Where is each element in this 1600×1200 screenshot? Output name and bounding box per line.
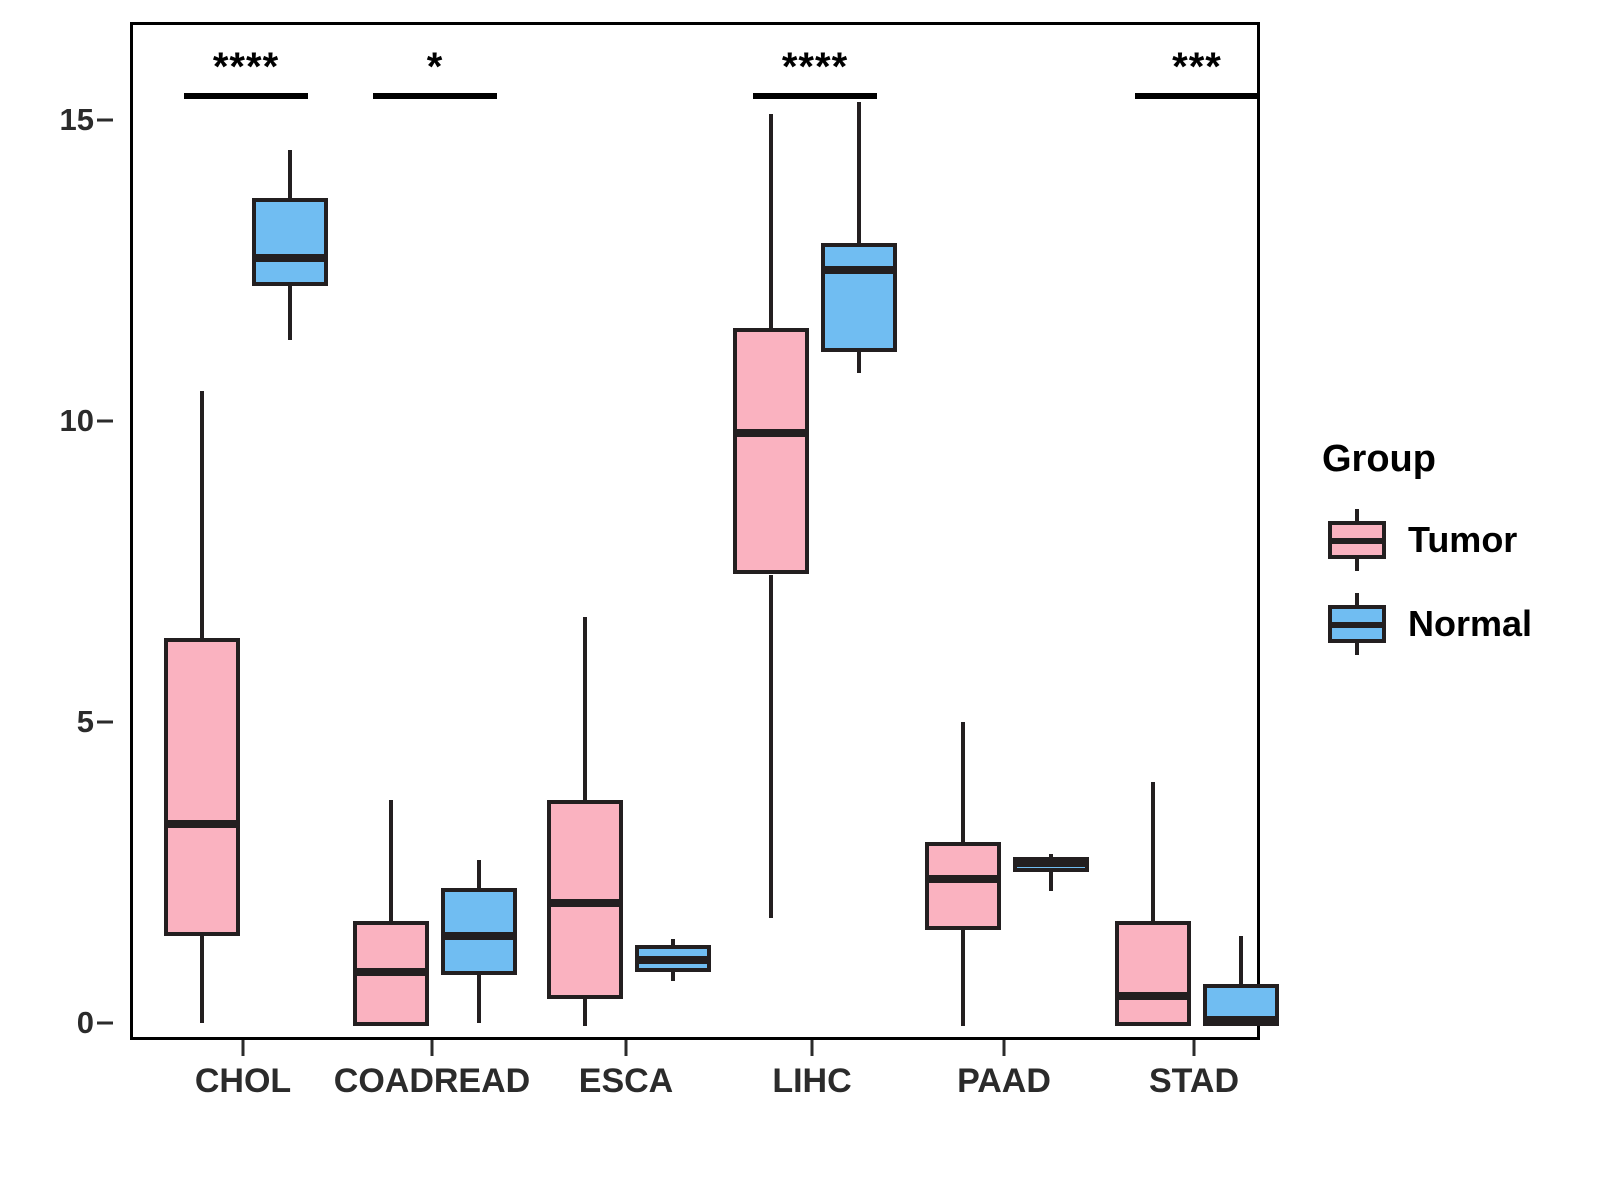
significance-label-coadread: * — [427, 45, 444, 90]
significance-bar-lihc — [753, 93, 877, 99]
significance-bar-coadread — [373, 93, 497, 99]
whisker-upper — [1151, 782, 1155, 920]
x-tick-mark-stad — [1193, 1040, 1196, 1056]
whisker-lower — [200, 936, 204, 1023]
boxplot-box-chol-normal — [252, 198, 328, 285]
x-tick-label-chol: CHOL — [195, 1062, 291, 1101]
legend-title: Group — [1322, 438, 1582, 481]
whisker-lower — [583, 999, 587, 1026]
whisker-lower — [1049, 872, 1053, 890]
x-tick-label-coadread: COADREAD — [334, 1062, 530, 1101]
whisker-lower — [477, 975, 481, 1023]
whisker-upper — [857, 102, 861, 243]
whisker-lower — [857, 352, 861, 373]
median-line — [733, 429, 809, 437]
median-line — [547, 899, 623, 907]
whisker-lower — [961, 930, 965, 1026]
legend-key-icon — [1328, 597, 1386, 651]
legend-label: Normal — [1408, 603, 1532, 645]
legend-label: Tumor — [1408, 519, 1517, 561]
y-tick-label: 5 — [77, 704, 94, 740]
chart-root: 051015 Gene Expression Level(log2 RSEM) … — [0, 0, 1600, 1200]
whisker-upper — [477, 860, 481, 887]
whisker-upper — [1239, 936, 1243, 984]
y-tick-mark — [97, 1022, 113, 1025]
whisker-upper — [288, 150, 292, 198]
significance-bar-chol — [184, 93, 308, 99]
x-tick-label-stad: STAD — [1149, 1062, 1239, 1101]
y-tick-mark — [97, 721, 113, 724]
whisker-upper — [200, 391, 204, 638]
x-tick-mark-paad — [1003, 1040, 1006, 1056]
y-tick-label: 15 — [60, 102, 94, 138]
y-tick-label: 10 — [60, 403, 94, 439]
whisker-lower — [288, 286, 292, 340]
legend-item-tumor[interactable]: Tumor — [1322, 503, 1582, 577]
whisker-upper — [389, 800, 393, 920]
y-tick-label: 0 — [77, 1005, 94, 1041]
whisker-lower — [769, 575, 773, 918]
boxplot-box-lihc-tumor — [733, 328, 809, 575]
significance-bar-stad — [1135, 93, 1259, 99]
median-line — [1013, 859, 1089, 867]
median-line — [164, 820, 240, 828]
significance-label-stad: *** — [1172, 45, 1222, 90]
boxplot-box-paad-tumor — [925, 842, 1001, 929]
whisker-upper — [769, 114, 773, 328]
median-line — [252, 254, 328, 262]
median-line — [353, 968, 429, 976]
x-tick-mark-esca — [625, 1040, 628, 1056]
significance-label-chol: **** — [213, 45, 279, 90]
median-line — [925, 875, 1001, 883]
median-line — [1203, 1016, 1279, 1024]
legend-items: TumorNormal — [1322, 503, 1582, 661]
x-tick-mark-chol — [242, 1040, 245, 1056]
plot-area: ************ — [133, 25, 1257, 1037]
x-tick-label-esca: ESCA — [579, 1062, 673, 1101]
whisker-upper — [961, 722, 965, 842]
x-tick-mark-lihc — [811, 1040, 814, 1056]
legend: Group TumorNormal — [1322, 438, 1582, 671]
legend-key-icon — [1328, 513, 1386, 567]
y-tick-mark — [97, 420, 113, 423]
significance-label-lihc: **** — [782, 45, 848, 90]
x-tick-mark-coadread — [431, 1040, 434, 1056]
median-line — [441, 932, 517, 940]
median-line — [1115, 992, 1191, 1000]
boxplot-box-stad-tumor — [1115, 921, 1191, 1026]
median-line — [821, 266, 897, 274]
boxplot-box-chol-tumor — [164, 638, 240, 936]
plot-panel: ************ — [130, 22, 1260, 1040]
whisker-lower — [671, 972, 675, 981]
boxplot-box-lihc-normal — [821, 243, 897, 351]
whisker-upper — [583, 617, 587, 801]
median-line — [635, 956, 711, 964]
y-axis: 051015 — [0, 0, 130, 1062]
x-tick-label-paad: PAAD — [957, 1062, 1051, 1101]
x-tick-label-lihc: LIHC — [772, 1062, 851, 1101]
legend-item-normal[interactable]: Normal — [1322, 587, 1582, 661]
y-tick-mark — [97, 119, 113, 122]
